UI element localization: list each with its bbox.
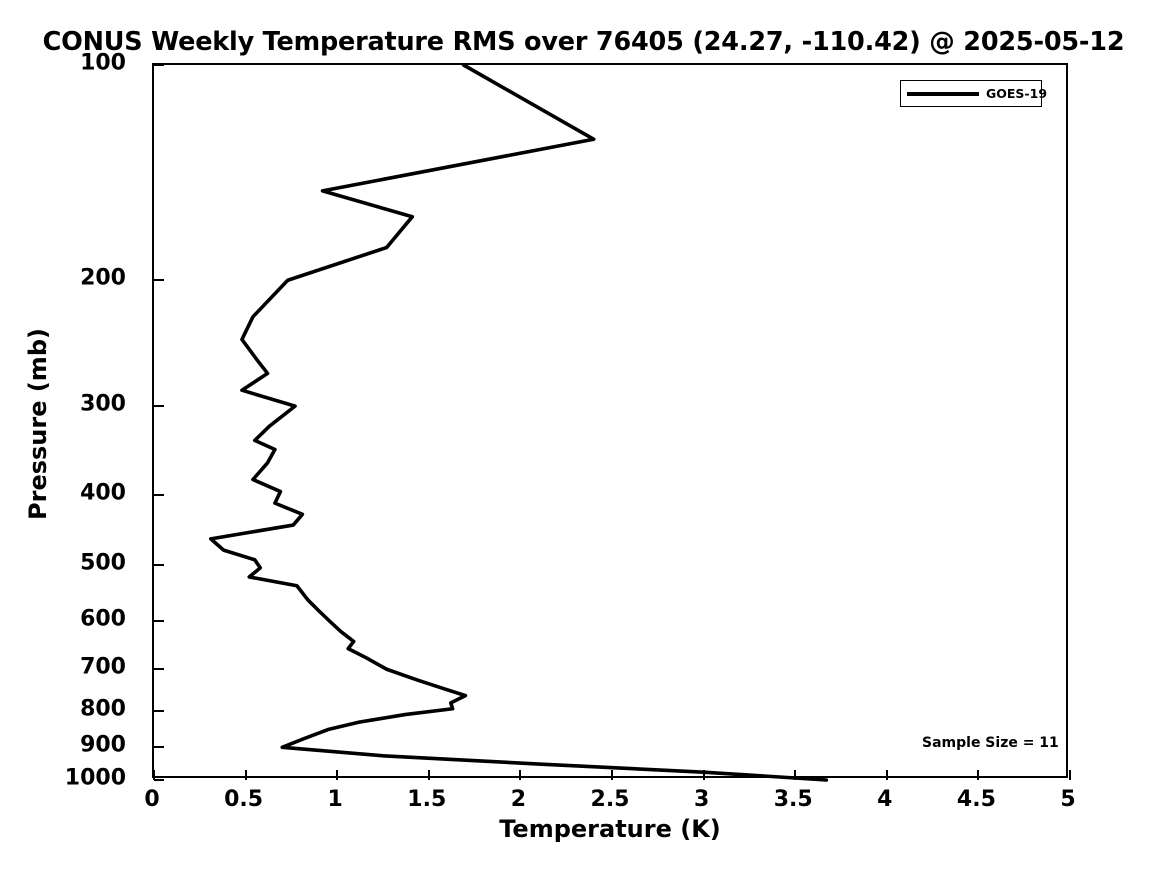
data-series-goes-19 — [211, 65, 827, 780]
y-tick-label: 1000 — [65, 766, 126, 791]
x-tick-label: 2 — [511, 787, 526, 812]
x-tick-label: 4.5 — [957, 787, 996, 812]
x-tick-label: 1 — [328, 787, 343, 812]
x-tick-mark — [336, 770, 338, 780]
legend-swatch-goes-19 — [907, 92, 979, 96]
y-tick-label: 400 — [80, 481, 126, 506]
y-tick-label: 900 — [80, 733, 126, 758]
plot-area — [152, 63, 1068, 778]
x-tick-label: 3 — [694, 787, 709, 812]
x-tick-label: 2.5 — [591, 787, 630, 812]
sample-size-annotation: Sample Size = 11 — [922, 735, 1059, 751]
y-tick-mark — [154, 494, 164, 496]
y-tick-mark — [154, 710, 164, 712]
x-tick-label: 5 — [1060, 787, 1075, 812]
y-tick-label: 300 — [80, 392, 126, 417]
y-tick-label: 800 — [80, 696, 126, 721]
x-tick-mark — [428, 770, 430, 780]
x-tick-label: 4 — [877, 787, 892, 812]
y-tick-label: 600 — [80, 607, 126, 632]
chart-figure: CONUS Weekly Temperature RMS over 76405 … — [0, 0, 1167, 875]
y-tick-mark — [154, 668, 164, 670]
x-tick-mark — [794, 770, 796, 780]
y-tick-mark — [154, 64, 164, 66]
x-tick-label: 1.5 — [407, 787, 446, 812]
x-tick-mark — [245, 770, 247, 780]
x-tick-label: 0.5 — [224, 787, 263, 812]
y-tick-mark — [154, 564, 164, 566]
y-tick-mark — [154, 779, 164, 781]
y-tick-mark — [154, 405, 164, 407]
x-tick-mark — [153, 770, 155, 780]
y-tick-label: 100 — [80, 51, 126, 76]
x-tick-label: 0 — [144, 787, 159, 812]
y-tick-label: 500 — [80, 550, 126, 575]
y-tick-mark — [154, 746, 164, 748]
x-tick-mark — [519, 770, 521, 780]
y-axis-tick-labels: 1002003004005006007008009001000 — [0, 63, 140, 778]
page-title: CONUS Weekly Temperature RMS over 76405 … — [0, 27, 1167, 57]
legend-label-goes-19: GOES-19 — [986, 86, 1047, 101]
y-tick-mark — [154, 279, 164, 281]
x-axis-label: Temperature (K) — [152, 815, 1068, 843]
y-tick-label: 200 — [80, 266, 126, 291]
x-tick-label: 3.5 — [774, 787, 813, 812]
x-tick-mark — [977, 770, 979, 780]
legend: GOES-19 — [900, 80, 1042, 107]
x-tick-mark — [611, 770, 613, 780]
y-tick-mark — [154, 620, 164, 622]
series-plot — [154, 65, 1070, 780]
y-tick-label: 700 — [80, 655, 126, 680]
x-tick-mark — [886, 770, 888, 780]
x-tick-mark — [703, 770, 705, 780]
x-tick-mark — [1069, 770, 1071, 780]
y-axis-label: Pressure (mb) — [24, 314, 52, 534]
